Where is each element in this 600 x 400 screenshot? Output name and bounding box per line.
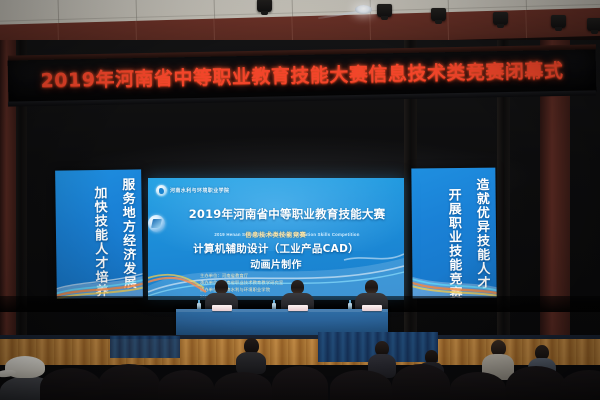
stage-light-icon xyxy=(377,4,392,17)
competition-emblem-icon xyxy=(148,215,165,232)
person-head xyxy=(365,280,378,294)
ribbon-graphic xyxy=(411,257,496,298)
audience-member xyxy=(40,368,102,400)
audience-member xyxy=(450,372,506,400)
stage-light-icon xyxy=(587,18,600,31)
school-logo-icon xyxy=(156,185,167,196)
name-card xyxy=(288,305,308,311)
stage-light-icon xyxy=(257,0,272,12)
ribbon-graphic xyxy=(55,257,143,299)
person-head xyxy=(291,280,304,294)
audience-member-cap xyxy=(5,356,45,378)
audience-member xyxy=(506,366,566,400)
left-slogan-banner: 服务地方经济发展 加快技能人才培养 xyxy=(55,169,143,298)
audience-member xyxy=(214,372,272,400)
led-banner-text: 2019年河南省中等职业教育技能大赛信息技术类竞赛闭幕式 xyxy=(8,55,596,93)
right-slogan-banner: 造就优异技能人才 开展职业技能竞赛 xyxy=(411,168,496,299)
stage-light-icon xyxy=(431,8,446,21)
audience-area xyxy=(0,336,600,400)
stage-light-icon xyxy=(493,12,508,25)
audience-member xyxy=(392,364,450,400)
name-card xyxy=(362,305,382,311)
audience-member xyxy=(236,338,266,374)
name-card xyxy=(212,305,232,311)
school-logo: 河南水利与环境职业学院 xyxy=(156,185,229,196)
person-body xyxy=(236,352,266,374)
school-logo-text: 河南水利与环境职业学院 xyxy=(170,187,229,194)
spotlight-lamp-icon xyxy=(355,5,372,14)
person-head xyxy=(215,280,228,294)
audience-member xyxy=(560,370,600,400)
audience-member xyxy=(98,364,160,400)
event-title-cn: 2019年河南省中等职业教育技能大赛 xyxy=(189,207,386,221)
photo-scene: 2019年河南省中等职业教育技能大赛信息技术类竞赛闭幕式 服务地方经济发展 加快… xyxy=(0,0,600,400)
audience-member xyxy=(330,370,392,400)
stage-light-icon xyxy=(551,15,566,28)
event-subtitle: 信息技术类技能竞赛 xyxy=(148,230,404,239)
audience-member xyxy=(272,366,328,400)
audience-member xyxy=(158,370,214,400)
